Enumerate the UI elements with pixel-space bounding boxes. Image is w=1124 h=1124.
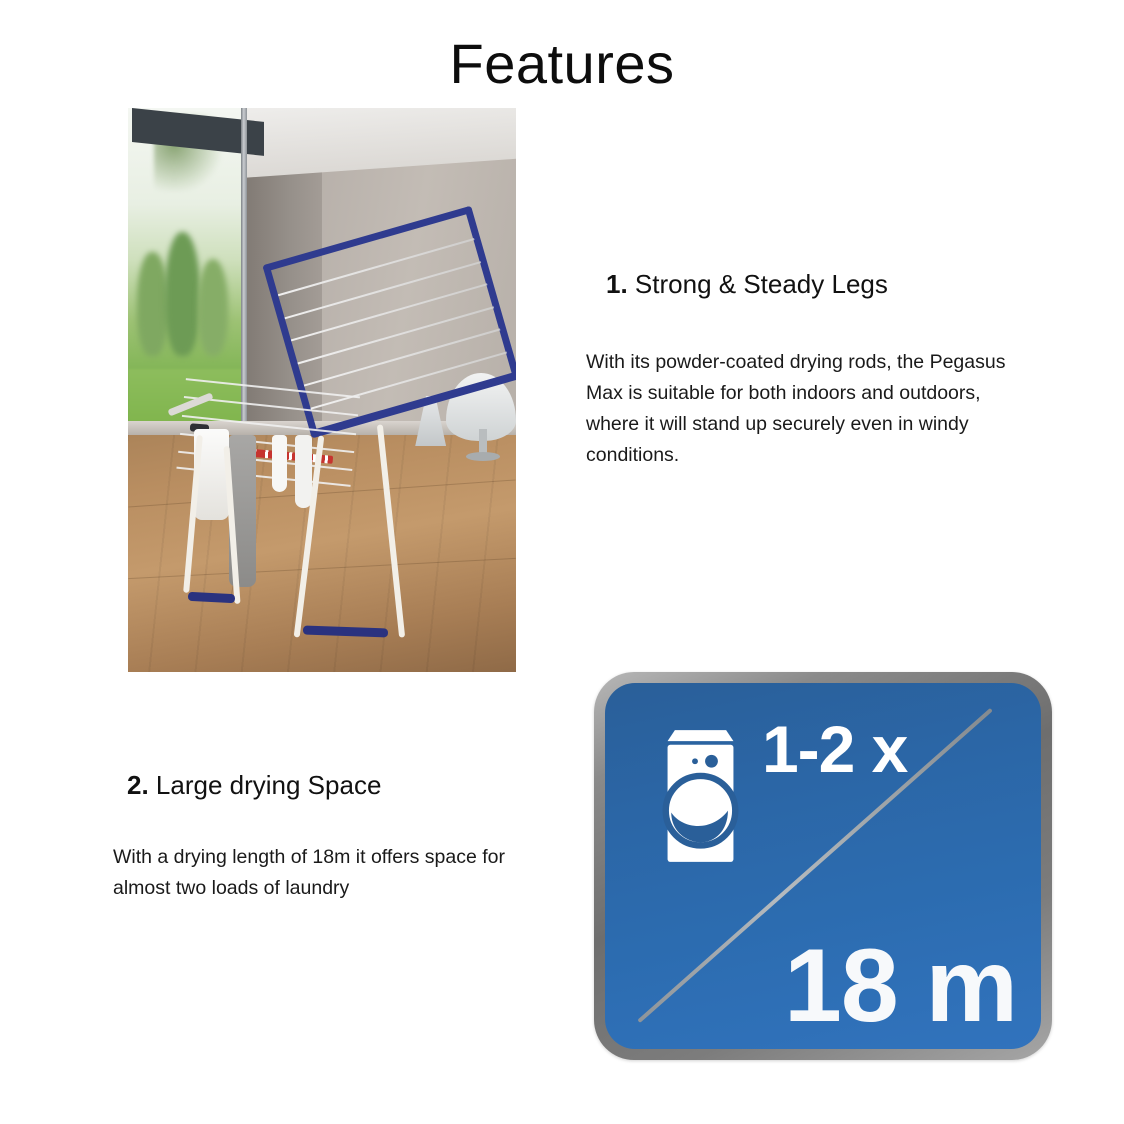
drying-rod	[291, 284, 488, 342]
feature-2-body: With a drying length of 18m it offers sp…	[113, 842, 543, 904]
washing-machine-icon	[646, 721, 755, 867]
drying-rod	[284, 261, 481, 319]
feature-1-heading: 1. Strong & Steady Legs	[606, 269, 888, 300]
clothes-airer-photo	[128, 108, 516, 672]
tree	[165, 232, 200, 356]
feature-2-heading: 2. Large drying Space	[127, 770, 381, 801]
feature-1-number: 1.	[606, 269, 628, 299]
loads-label: 1-2 x	[762, 716, 907, 782]
tree	[198, 259, 228, 355]
feature-2-title: Large drying Space	[156, 770, 381, 800]
drying-length-label: 18 m	[784, 934, 1017, 1038]
photo-scene	[128, 108, 516, 672]
tree	[137, 252, 167, 355]
page-title: Features	[0, 33, 1124, 95]
feature-1-title: Strong & Steady Legs	[635, 269, 888, 299]
drying-rod	[304, 329, 501, 387]
capacity-badge: 1-2 x 18 m	[594, 672, 1052, 1060]
feature-2-number: 2.	[127, 770, 149, 800]
hanging-laundry	[272, 435, 288, 491]
feature-1-body: With its powder-coated drying rods, the …	[586, 347, 1006, 471]
capacity-badge-face: 1-2 x 18 m	[605, 683, 1041, 1049]
drying-rod	[297, 306, 494, 364]
